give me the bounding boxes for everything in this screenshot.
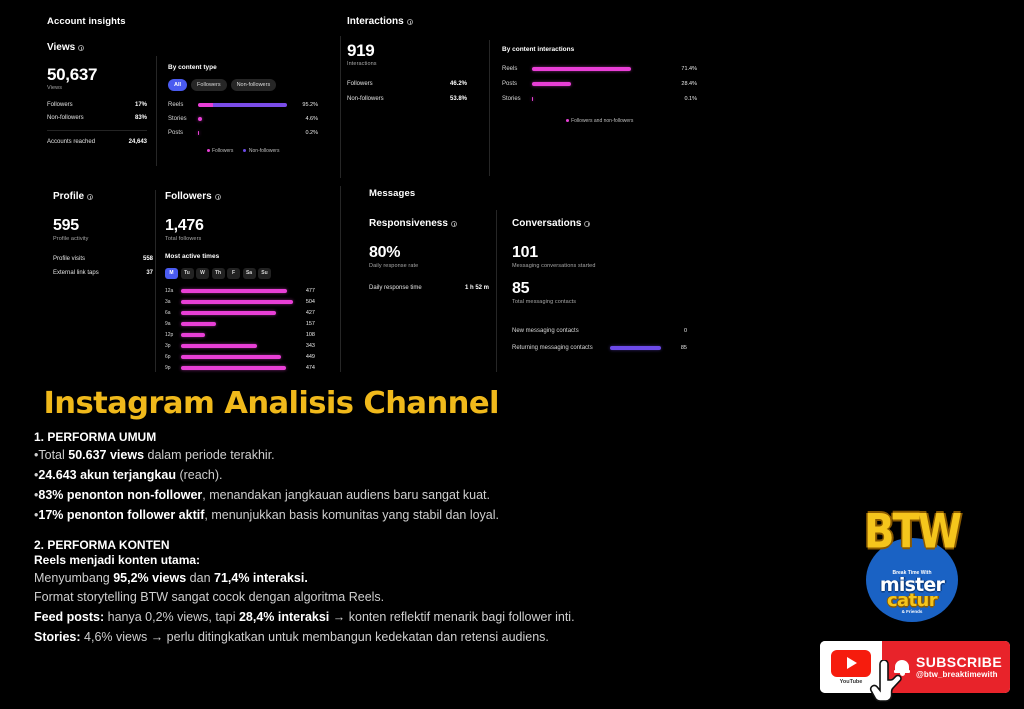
bar-value: 71.4% [671, 66, 697, 72]
info-circle-icon[interactable] [87, 194, 93, 200]
content-type-filter-pills: All Followers Non-followers [168, 79, 318, 91]
active-time-row: 12p108 [165, 332, 315, 338]
row-value: 83% [135, 115, 147, 121]
day-selector: M Tu W Th F Sa Su [165, 268, 315, 279]
report-text: , menandakan jangkauan audiens baru sang… [202, 488, 490, 502]
bar-value: 4.6% [292, 116, 318, 122]
active-time-row: 6a427 [165, 310, 315, 316]
views-value: 50,637 [47, 66, 147, 84]
report-line: •24.643 akun terjangkau (reach). [34, 467, 684, 484]
interactions-legend: Followers and non-followers [502, 118, 697, 124]
report-text: → konten reflektif menarik bagi follower… [329, 610, 574, 624]
conversations-header: Conversations [512, 218, 687, 229]
row-label: Followers [47, 102, 73, 108]
row-value: 558 [143, 256, 153, 262]
active-time-value: 449 [293, 354, 315, 360]
total-contacts-caption: Total messaging contacts [512, 299, 687, 305]
divider-vertical [489, 40, 490, 176]
report-emphasis: 50.637 views [68, 448, 144, 462]
logo-catur-text: catur [848, 590, 976, 611]
row-label: Non-followers [47, 115, 84, 121]
bar-track [181, 366, 293, 370]
followers-card: Followers 1,476 Total followers Most act… [165, 191, 315, 371]
bar-row-stories: Stories 4.6% [168, 116, 318, 122]
row-value: 53.8% [450, 96, 467, 102]
report-line: Feed posts: hanya 0,2% views, tapi 28,4%… [34, 609, 684, 626]
report-text: hanya 0,2% views, tapi [104, 610, 239, 624]
bar-fill [181, 300, 293, 304]
day-pill-m[interactable]: M [165, 268, 178, 279]
row-value: 17% [135, 102, 147, 108]
day-pill-su[interactable]: Su [258, 268, 271, 279]
conversations-started-value: 101 [512, 245, 687, 262]
bar-fill [610, 346, 661, 350]
section2-title: 2. PERFORMA KONTEN [34, 538, 684, 552]
responsiveness-card: Responsiveness 80% Daily response rate D… [369, 218, 489, 291]
account-insights-title: Account insights [47, 16, 126, 27]
active-time-label: 12a [165, 288, 181, 294]
conversations-started-caption: Messaging conversations started [512, 263, 687, 269]
day-pill-th[interactable]: Th [212, 268, 225, 279]
active-time-value: 157 [293, 321, 315, 327]
bar-track [610, 346, 661, 350]
divider-vertical [340, 36, 341, 178]
hand-cursor-icon [868, 660, 908, 706]
divider-vertical [496, 210, 497, 372]
profile-title: Profile [53, 191, 84, 202]
report-line: •17% penonton follower aktif, menunjukka… [34, 507, 684, 524]
bar-fill [181, 366, 286, 370]
responsiveness-title: Responsiveness [369, 218, 448, 229]
row-label: Followers [347, 81, 373, 87]
divider-vertical [340, 186, 341, 372]
bar-label: Stories [502, 96, 532, 102]
row-label: Non-followers [347, 96, 384, 102]
bar-value: 0.1% [671, 96, 697, 102]
bar-fill [532, 67, 631, 71]
new-contacts-row: New messaging contacts 0 [512, 328, 687, 334]
active-time-label: 9a [165, 321, 181, 327]
profile-row-visits: Profile visits 558 [53, 256, 153, 262]
info-circle-icon[interactable] [451, 221, 457, 227]
interactions-caption: Interactions [347, 61, 467, 67]
divider [47, 130, 147, 131]
row-value: 0 [661, 328, 687, 334]
bar-value: 95.2% [292, 102, 318, 108]
followers-caption: Total followers [165, 236, 315, 242]
followers-header: Followers [165, 191, 315, 202]
section2-lines: Menyumbang 95,2% views dan 71,4% interak… [34, 570, 684, 647]
bar-fill [181, 355, 281, 359]
day-pill-w[interactable]: W [196, 268, 209, 279]
bar-label: Posts [502, 81, 532, 87]
report-emphasis: 83% penonton non-follower [38, 488, 202, 502]
report-emphasis: Stories: [34, 630, 81, 644]
logo-friends-text: & Friends [848, 609, 976, 614]
responsiveness-value: 80% [369, 245, 489, 262]
active-time-label: 3p [165, 343, 181, 349]
row-value: 37 [146, 270, 153, 276]
bar-track [532, 97, 671, 101]
active-time-row: 3a504 [165, 299, 315, 305]
subscribe-label: SUBSCRIBE [916, 655, 1002, 670]
legend-item-non-followers: Non-followers [243, 148, 279, 154]
legend-dot-icon [207, 149, 210, 152]
bar-row-reels: Reels 71.4% [502, 66, 697, 72]
bar-row-stories: Stories 0.1% [502, 96, 697, 102]
responsiveness-caption: Daily response rate [369, 263, 489, 269]
interactions-row-nonfollowers: Non-followers 53.8% [347, 96, 467, 102]
report-text: Format storytelling BTW sangat cocok den… [34, 590, 384, 604]
views-row-followers: Followers 17% [47, 102, 147, 108]
views-card: Views 50,637 Views Followers 17% Non-fol… [47, 42, 147, 145]
active-time-label: 6a [165, 310, 181, 316]
bar-label: Stories [168, 116, 198, 122]
bar-fill [532, 82, 571, 86]
bar-track [181, 333, 293, 337]
active-time-label: 12p [165, 332, 181, 338]
responsiveness-header: Responsiveness [369, 218, 489, 229]
report-text: dalam periode terakhir. [144, 448, 275, 462]
profile-card: Profile 595 Profile activity Profile vis… [53, 191, 153, 276]
profile-caption: Profile activity [53, 236, 153, 242]
pill-all[interactable]: All [168, 79, 187, 91]
conversations-card: Conversations 101 Messaging conversation… [512, 218, 687, 351]
row-value: 1 h 52 m [465, 285, 489, 291]
bar-fill [198, 103, 287, 107]
profile-value: 595 [53, 218, 153, 235]
day-pill-f[interactable]: F [227, 268, 240, 279]
row-label: Daily response time [369, 285, 422, 291]
by-content-type-title: By content type [168, 64, 318, 71]
legend-label: Followers and non-followers [571, 118, 633, 124]
info-circle-icon[interactable] [78, 45, 84, 51]
active-time-value: 343 [293, 343, 315, 349]
bar-track [532, 82, 671, 86]
report-line: •83% penonton non-follower, menandakan j… [34, 487, 684, 504]
report-text: (reach). [176, 468, 223, 482]
info-circle-icon[interactable] [584, 221, 590, 227]
divider-vertical [156, 56, 157, 166]
row-label: New messaging contacts [512, 328, 661, 334]
report-emphasis: 24.643 akun terjangkau [38, 468, 176, 482]
interactions-header: Interactions [347, 16, 413, 27]
youtube-wordmark: YouTube [840, 679, 863, 685]
bar-value: 0.2% [292, 130, 318, 136]
info-circle-icon[interactable] [407, 19, 413, 25]
legend-label: Non-followers [249, 148, 280, 154]
section2-subtitle: Reels menjadi konten utama: [34, 553, 684, 567]
interactions-card: 919 Interactions Followers 46.2% Non-fol… [347, 42, 467, 102]
bar-fill [181, 322, 216, 326]
page-title: Instagram Analisis Channel [44, 386, 499, 421]
views-label: Views [47, 42, 75, 53]
total-contacts-value: 85 [512, 281, 687, 298]
pill-followers[interactable]: Followers [191, 79, 227, 91]
row-label: External link taps [53, 270, 99, 276]
bar-track [181, 344, 293, 348]
active-time-value: 477 [293, 288, 315, 294]
active-time-value: 108 [293, 332, 315, 338]
bar-value: 28.4% [671, 81, 697, 87]
report-line: •Total 50.637 views dalam periode terakh… [34, 447, 684, 464]
profile-row-link-taps: External link taps 37 [53, 270, 153, 276]
bar-track [198, 103, 292, 107]
interactions-value: 919 [347, 42, 467, 60]
divider-vertical [155, 190, 156, 372]
bar-row-reels: Reels 95.2% [168, 102, 318, 108]
active-time-row: 3p343 [165, 343, 315, 349]
row-label: Accounts reached [47, 139, 95, 145]
by-content-type-card: By content type All Followers Non-follow… [168, 64, 318, 154]
day-pill-tu[interactable]: Tu [181, 268, 194, 279]
active-time-row: 6p449 [165, 354, 315, 360]
btw-logo: BTW Break Time With mister catur & Frien… [848, 512, 976, 624]
followers-value: 1,476 [165, 218, 315, 235]
info-circle-icon[interactable] [215, 194, 221, 200]
subscribe-handle: @btw_breaktimewith [916, 670, 1002, 679]
report-emphasis: 71,4% interaksi. [214, 571, 308, 585]
bar-fill [198, 117, 202, 121]
youtube-play-icon [831, 650, 871, 677]
report-line: Format storytelling BTW sangat cocok den… [34, 589, 684, 606]
bar-track [198, 131, 292, 135]
report-body: 1. PERFORMA UMUM •Total 50.637 views dal… [34, 430, 684, 646]
bar-fill [181, 333, 205, 337]
active-time-label: 6p [165, 354, 181, 360]
pill-non-followers[interactable]: Non-followers [231, 79, 277, 91]
report-text: , menunjukkan basis komunitas yang stabi… [204, 508, 499, 522]
bar-row-posts: Posts 28.4% [502, 81, 697, 87]
report-text: •Total [34, 448, 68, 462]
bar-fill [198, 131, 199, 135]
row-value: 46.2% [450, 81, 467, 87]
bar-track [532, 67, 671, 71]
by-content-interactions-title: By content interactions [502, 46, 697, 53]
bar-track [181, 311, 293, 315]
legend-item-followers-and-non-followers: Followers and non-followers [566, 118, 634, 124]
report-emphasis: Feed posts: [34, 610, 104, 624]
report-emphasis: 95,2% views [113, 571, 186, 585]
legend-label: Followers [212, 148, 233, 154]
section1-lines: •Total 50.637 views dalam periode terakh… [34, 447, 684, 524]
bar-label: Reels [502, 66, 532, 72]
bar-track [198, 117, 292, 121]
legend-dot-icon [243, 149, 246, 152]
report-line: Menyumbang 95,2% views dan 71,4% interak… [34, 570, 684, 587]
bar-fill [181, 289, 287, 293]
bar-row-posts: Posts 0.2% [168, 130, 318, 136]
views-row-nonfollowers: Non-followers 83% [47, 115, 147, 121]
active-time-value: 504 [293, 299, 315, 305]
returning-contacts-row: Returning messaging contacts 85 [512, 345, 687, 351]
messages-section-title: Messages [369, 188, 415, 199]
active-time-value: 474 [293, 365, 315, 371]
bar-track [181, 322, 293, 326]
active-time-row: 9p474 [165, 365, 315, 371]
views-title: Views [47, 42, 147, 53]
row-value: 85 [661, 345, 687, 351]
daily-response-time-row: Daily response time 1 h 52 m [369, 285, 489, 291]
interactions-row-followers: Followers 46.2% [347, 81, 467, 87]
most-active-times-chart: 12a4773a5046a4279a15712p1083p3436p4499p4… [165, 288, 315, 371]
views-caption: Views [47, 85, 147, 91]
bar-track [181, 355, 293, 359]
accounts-reached-row: Accounts reached 24,643 [47, 139, 147, 145]
row-label: Profile visits [53, 256, 85, 262]
instagram-insights-panel: Account insights Views 50,637 Views Foll… [0, 0, 1024, 378]
bar-fill [532, 97, 533, 101]
bar-label: Posts [168, 130, 198, 136]
report-emphasis: 17% penonton follower aktif [38, 508, 204, 522]
bar-track [181, 289, 293, 293]
active-time-label: 3a [165, 299, 181, 305]
followers-title: Followers [165, 191, 212, 202]
active-time-row: 9a157 [165, 321, 315, 327]
content-type-legend: Followers Non-followers [168, 148, 318, 154]
day-pill-sa[interactable]: Sa [243, 268, 256, 279]
bar-fill [181, 344, 257, 348]
profile-header: Profile [53, 191, 153, 202]
report-text: dan [186, 571, 214, 585]
interactions-title: Interactions [347, 16, 404, 27]
report-text: 4,6% views → perlu ditingkatkan untuk me… [81, 630, 549, 644]
bar-track [181, 300, 293, 304]
subscribe-text: SUBSCRIBE @btw_breaktimewith [916, 655, 1002, 679]
bar-label: Reels [168, 102, 198, 108]
subscribe-button[interactable]: YouTube SUBSCRIBE @btw_breaktimewith [820, 641, 1010, 693]
active-time-row: 12a477 [165, 288, 315, 294]
report-text: Menyumbang [34, 571, 113, 585]
active-time-value: 427 [293, 310, 315, 316]
report-emphasis: 28,4% interaksi [239, 610, 329, 624]
active-time-label: 9p [165, 365, 181, 371]
row-value: 24,643 [129, 139, 147, 145]
most-active-times-title: Most active times [165, 253, 315, 260]
by-content-interactions-card: By content interactions Reels 71.4% Post… [502, 46, 697, 124]
report-line: Stories: 4,6% views → perlu ditingkatkan… [34, 629, 684, 646]
conversations-title: Conversations [512, 218, 581, 229]
logo-btw-text: BTW [848, 508, 976, 555]
bar-fill [181, 311, 276, 315]
legend-item-followers: Followers [207, 148, 234, 154]
section1-title: 1. PERFORMA UMUM [34, 430, 684, 444]
legend-dot-icon [566, 119, 569, 122]
row-label: Returning messaging contacts [512, 345, 610, 351]
